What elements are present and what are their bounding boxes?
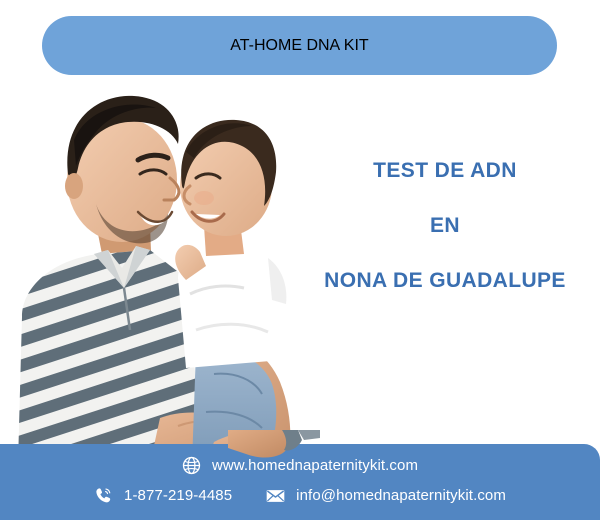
headline-block: TEST DE ADN EN NONA DE GUADALUPE — [300, 160, 590, 291]
email-text: info@homednapaternitykit.com — [296, 487, 506, 504]
headline-line-2: EN — [300, 215, 590, 236]
hero-photo — [0, 82, 318, 464]
hero-photo-illustration — [0, 82, 318, 464]
contact-phone[interactable]: 1-877-219-4485 — [94, 486, 232, 505]
website-text: www.homednapaternitykit.com — [212, 457, 418, 474]
footer-row-phone-email: 1-877-219-4485 info@homednapaternitykit.… — [0, 486, 600, 505]
phone-icon — [94, 486, 113, 505]
phone-text: 1-877-219-4485 — [124, 487, 232, 504]
page-title: AT-HOME DNA KIT — [230, 37, 368, 55]
header-banner: AT-HOME DNA KIT — [42, 16, 557, 75]
globe-icon — [182, 456, 201, 475]
footer-contact-bar: www.homednapaternitykit.com 1-877-219-44… — [0, 444, 600, 520]
contact-email[interactable]: info@homednapaternitykit.com — [266, 486, 506, 505]
envelope-icon — [266, 486, 285, 505]
contact-website[interactable]: www.homednapaternitykit.com — [182, 456, 418, 475]
footer-row-website: www.homednapaternitykit.com — [0, 456, 600, 475]
headline-line-1: TEST DE ADN — [300, 160, 590, 181]
headline-line-3: NONA DE GUADALUPE — [300, 270, 590, 291]
